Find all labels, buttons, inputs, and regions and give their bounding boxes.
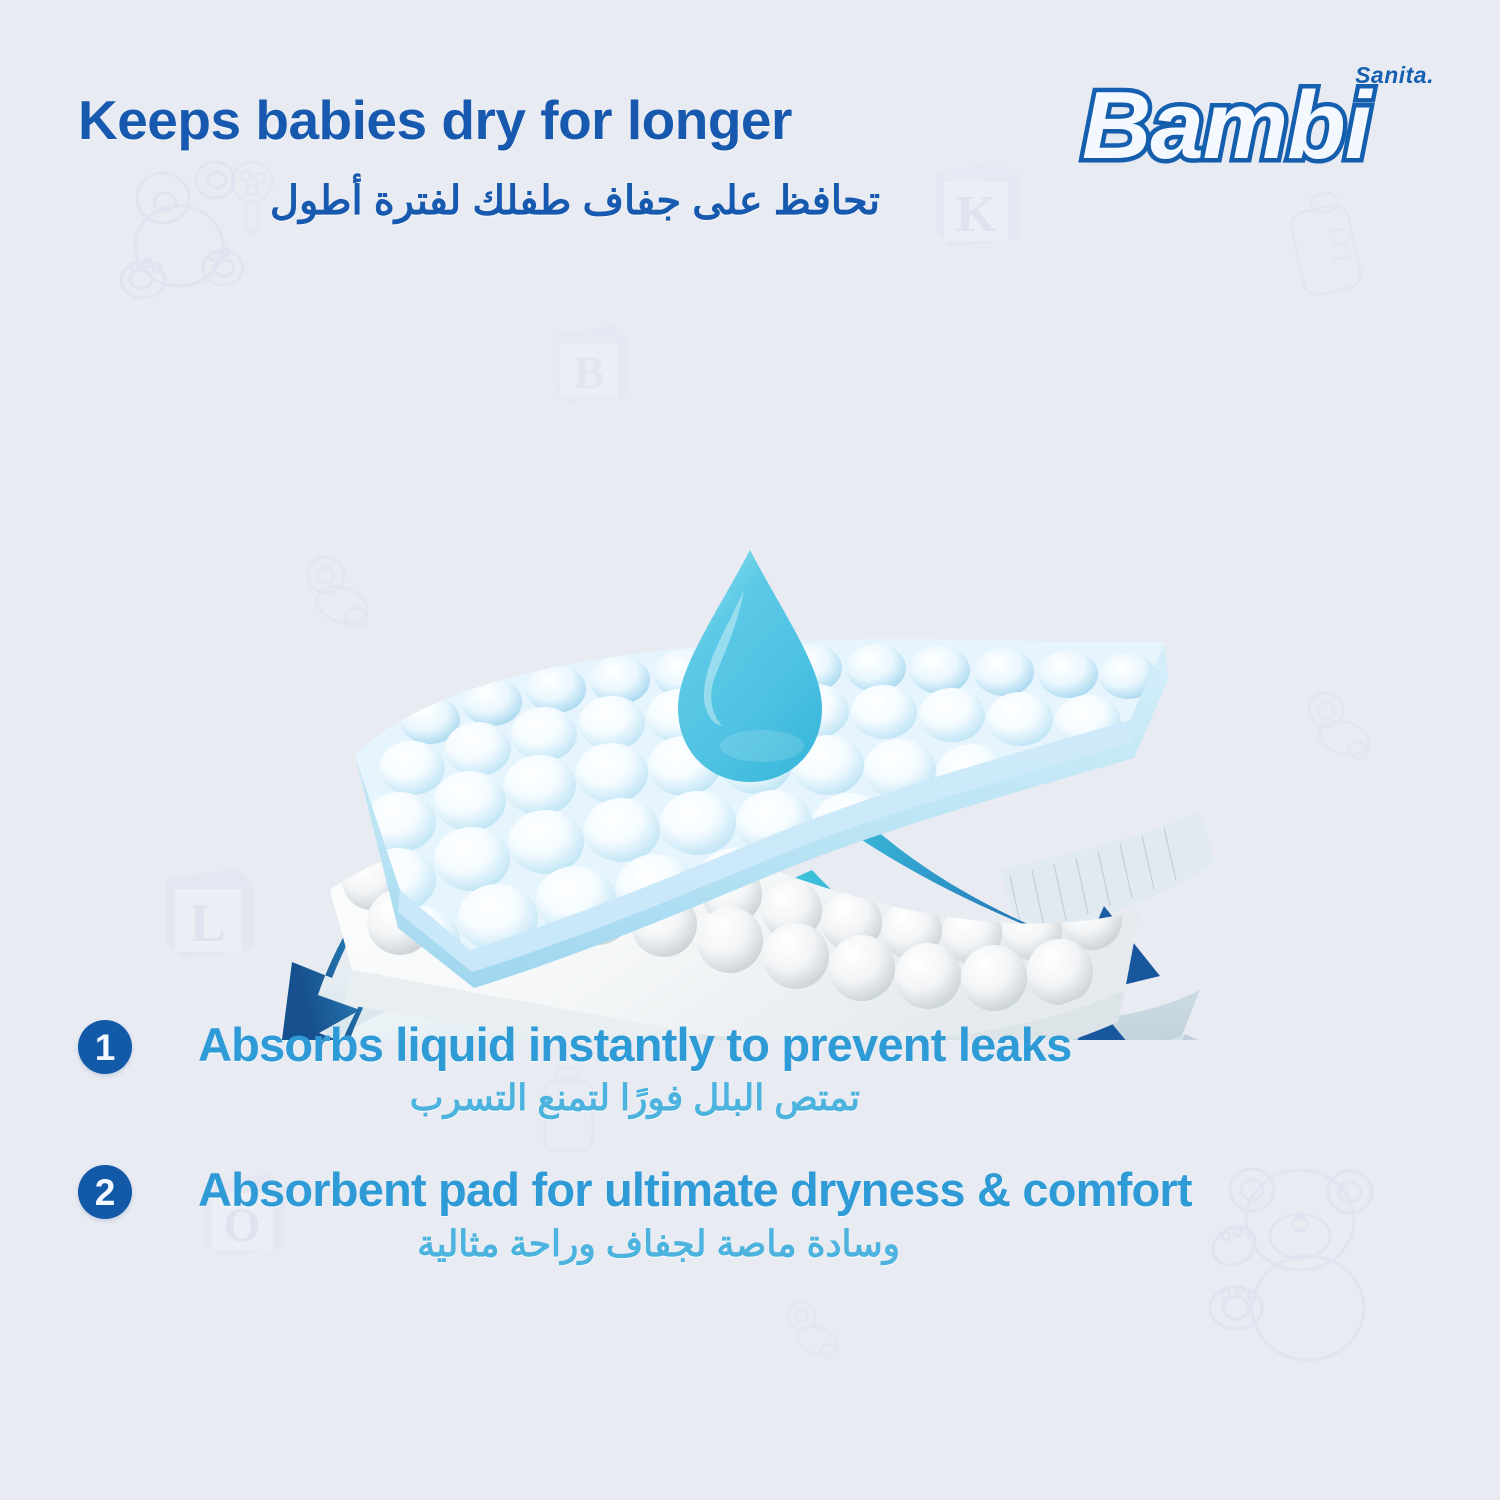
water-droplet (678, 550, 822, 782)
feature-text-group: Absorbent pad for ultimate dryness & com… (78, 1165, 1500, 1264)
brand-logo: Sanita. Bambi (1082, 62, 1442, 187)
feature-text-ar: وسادة ماصة لجفاف وراحة مثالية (198, 1223, 1500, 1265)
page-title: Keeps babies dry for longer (78, 88, 792, 152)
feature-list: 1 Absorbs liquid instantly to prevent le… (0, 1020, 1500, 1311)
feature-text-en: Absorbs liquid instantly to prevent leak… (198, 1020, 1500, 1069)
feature-text-ar: تمتص البلل فورًا لتمنع التسرب (198, 1077, 1500, 1119)
diaper-cross-section-illustration (0, 250, 1500, 1040)
feature-text-en: Absorbent pad for ultimate dryness & com… (198, 1165, 1500, 1214)
list-item: 2 Absorbent pad for ultimate dryness & c… (0, 1165, 1500, 1264)
page-title-arabic: تحافظ على جفاف طفلك لفترة أطول (270, 178, 880, 224)
list-item: 1 Absorbs liquid instantly to prevent le… (0, 1020, 1500, 1119)
feature-number-badge: 1 (78, 1020, 132, 1074)
feature-number-badge: 2 (78, 1165, 132, 1219)
feature-text-group: Absorbs liquid instantly to prevent leak… (78, 1020, 1500, 1119)
svg-text:K: K (956, 186, 997, 243)
letter-block-k-watermark: K (930, 155, 1026, 251)
brand-name-label: Bambi (1082, 78, 1370, 174)
promo-image-root: K B L L O (0, 0, 1500, 1500)
